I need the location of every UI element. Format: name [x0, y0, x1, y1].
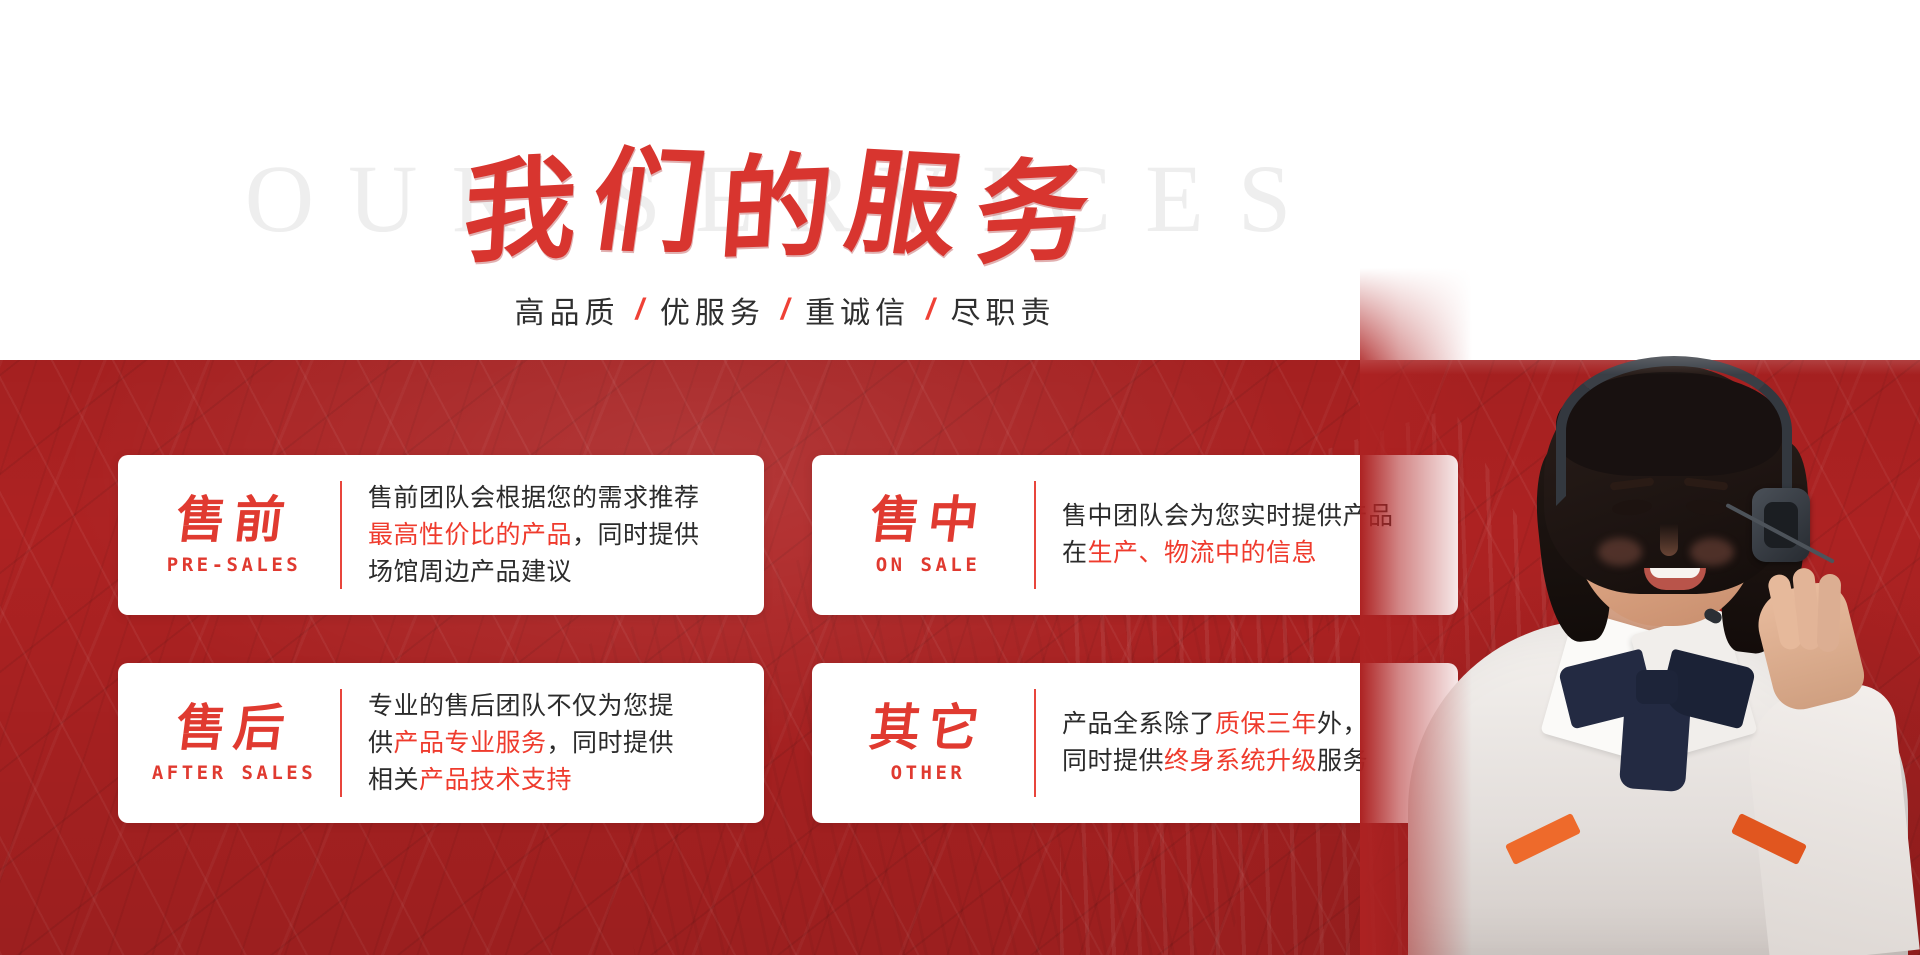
subtitle-separator-3: / [926, 293, 934, 327]
card-description-line: 产品全系除了质保三年外， [1062, 706, 1444, 743]
card-description-line: 在生产、物流中的信息 [1062, 535, 1444, 572]
title-char-1: 我 [460, 117, 597, 285]
card-description-line: 专业的售后团队不仅为您提 [368, 688, 750, 725]
badge-title-cn: 售前 [173, 494, 295, 547]
body-text: 产品全系除了 [1062, 710, 1215, 738]
card-divider [340, 689, 342, 797]
card-badge: 售后 AFTER SALES [128, 702, 340, 785]
card-description-line: 同时提供终身系统升级服务 [1062, 743, 1444, 780]
highlight-text: 产品专业服务 [394, 729, 547, 757]
subtitle-separator-2: / [781, 293, 789, 327]
title-char-5: 务 [972, 119, 1109, 287]
card-divider [1034, 689, 1036, 797]
subtitle-part-3: 重诚信 [805, 288, 910, 332]
card-description-line: 售前团队会根据您的需求推荐 [368, 480, 750, 517]
body-text: 同时提供 [1062, 747, 1164, 775]
body-text: 场馆周边产品建议 [368, 558, 572, 586]
card-badge: 售中 ON SALE [822, 494, 1034, 577]
service-card-other[interactable]: 其它 OTHER 产品全系除了质保三年外，同时提供终身系统升级服务 [812, 663, 1458, 823]
service-card-on-sale[interactable]: 售中 ON SALE 售中团队会为您实时提供产品在生产、物流中的信息 [812, 455, 1458, 615]
badge-title-en: PRE-SALES [167, 554, 301, 576]
subtitle: 高品质 / 优服务 / 重诚信 / 尽职责 [0, 288, 1570, 332]
body-text: 在 [1062, 539, 1088, 567]
card-divider [340, 481, 342, 589]
card-description-line: 售中团队会为您实时提供产品 [1062, 498, 1444, 535]
badge-title-en: ON SALE [876, 554, 981, 576]
highlight-text: 质保三年 [1215, 710, 1317, 738]
badge-title-cn: 其它 [867, 702, 989, 755]
badge-title-en: AFTER SALES [152, 762, 316, 784]
subtitle-part-2: 优服务 [660, 288, 765, 332]
page-title: 我们的服务 [0, 122, 1578, 272]
badge-title-en: OTHER [891, 762, 966, 784]
card-description-line: 供产品专业服务，同时提供 [368, 725, 750, 762]
subtitle-separator-1: / [635, 293, 643, 327]
highlight-text: 终身系统升级 [1164, 747, 1317, 775]
title-char-2: 们 [582, 110, 732, 276]
services-banner: OUR SERVICES 我们的服务 高品质 / 优服务 / 重诚信 / 尽职责… [0, 0, 1920, 955]
card-badge: 其它 OTHER [822, 702, 1034, 785]
body-text: 供 [368, 729, 394, 757]
subtitle-part-1: 高品质 [514, 288, 619, 332]
body-text: 售前团队会根据您的需求推荐 [368, 484, 700, 512]
body-text: 服务 [1317, 747, 1368, 775]
body-text: 专业的售后团队不仅为您提 [368, 692, 674, 720]
highlight-text: 产品技术支持 [419, 766, 572, 794]
card-description: 售前团队会根据您的需求推荐最高性价比的产品，同时提供场馆周边产品建议 [368, 480, 764, 591]
card-description: 专业的售后团队不仅为您提供产品专业服务，同时提供相关产品技术支持 [368, 688, 764, 799]
body-text: 外， [1317, 710, 1368, 738]
banner-header: OUR SERVICES 我们的服务 高品质 / 优服务 / 重诚信 / 尽职责 [0, 0, 1920, 360]
title-char-4: 服 [837, 111, 990, 279]
card-description-line: 最高性价比的产品，同时提供 [368, 517, 750, 554]
card-divider [1034, 481, 1036, 589]
highlight-text: 最高性价比的产品 [368, 521, 572, 549]
service-card-after-sales[interactable]: 售后 AFTER SALES 专业的售后团队不仅为您提供产品专业服务，同时提供相… [118, 663, 764, 823]
subtitle-part-4: 尽职责 [951, 288, 1056, 332]
body-text: ，同时提供 [572, 521, 700, 549]
service-card-grid: 售前 PRE-SALES 售前团队会根据您的需求推荐最高性价比的产品，同时提供场… [118, 455, 1458, 855]
body-text: 相关 [368, 766, 419, 794]
title-char-3: 的 [715, 116, 855, 282]
badge-title-cn: 售后 [173, 702, 295, 755]
body-text: ，同时提供 [547, 729, 675, 757]
card-badge: 售前 PRE-SALES [128, 494, 340, 577]
service-card-pre-sales[interactable]: 售前 PRE-SALES 售前团队会根据您的需求推荐最高性价比的产品，同时提供场… [118, 455, 764, 615]
card-description: 产品全系除了质保三年外，同时提供终身系统升级服务 [1062, 706, 1458, 780]
headline-group: OUR SERVICES 我们的服务 [0, 128, 1570, 268]
badge-title-cn: 售中 [867, 494, 989, 547]
card-description: 售中团队会为您实时提供产品在生产、物流中的信息 [1062, 498, 1458, 572]
card-description-line: 场馆周边产品建议 [368, 554, 750, 591]
card-description-line: 相关产品技术支持 [368, 762, 750, 799]
body-text: 售中团队会为您实时提供产品 [1062, 502, 1394, 530]
highlight-text: 生产、物流中的信息 [1088, 539, 1318, 567]
